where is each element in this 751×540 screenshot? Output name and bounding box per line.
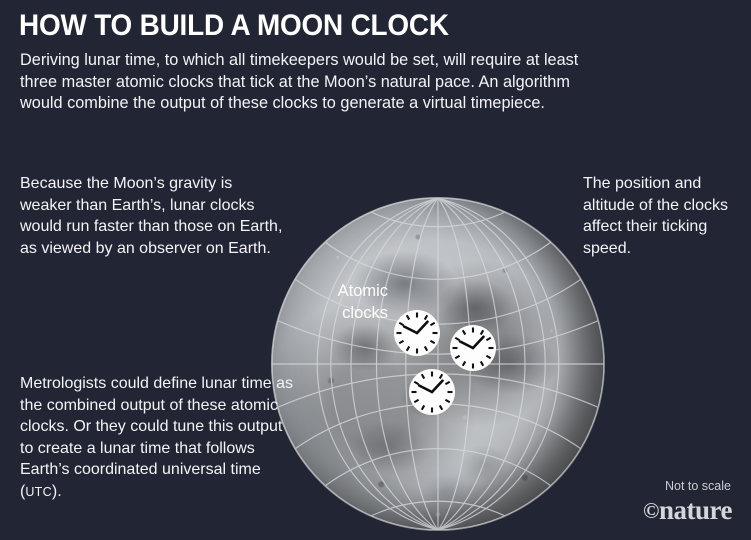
atomic-clocks-label: Atomic clocks: [288, 280, 388, 324]
atomic-clocks-label-line1: Atomic: [288, 280, 388, 302]
clock-face-2: [450, 325, 496, 371]
moon-illustration: [271, 197, 605, 531]
utc-abbreviation: utc: [25, 485, 52, 499]
annotation-metrologists: Metrologists could define lunar time as …: [20, 373, 295, 503]
clock-face-3: [409, 369, 455, 415]
standfirst-paragraph: Deriving lunar time, to which all timeke…: [20, 50, 585, 115]
moon-graticule: [271, 197, 605, 531]
page-title: HOW TO BUILD A MOON CLOCK: [19, 10, 449, 42]
nature-logo: ©nature: [643, 497, 732, 524]
atomic-clocks-label-line2: clocks: [288, 302, 388, 324]
atomic-clock-2: [450, 325, 496, 371]
infographic-canvas: HOW TO BUILD A MOON CLOCK Deriving lunar…: [0, 0, 751, 540]
scale-note: Not to scale: [665, 479, 731, 493]
annotation-gravity: Because the Moon’s gravity is weaker tha…: [20, 173, 285, 259]
clock-face-1: [394, 310, 440, 356]
annotation-metrologists-text: Metrologists could define lunar time as …: [20, 375, 293, 500]
annotation-position-altitude: The position and altitude of the clocks …: [583, 173, 743, 259]
atomic-clock-1: [394, 310, 440, 356]
copyright-icon: ©: [643, 498, 659, 523]
annotation-metrologists-tail: ).: [52, 483, 62, 500]
atomic-clock-3: [409, 369, 455, 415]
nature-wordmark: nature: [659, 495, 732, 525]
